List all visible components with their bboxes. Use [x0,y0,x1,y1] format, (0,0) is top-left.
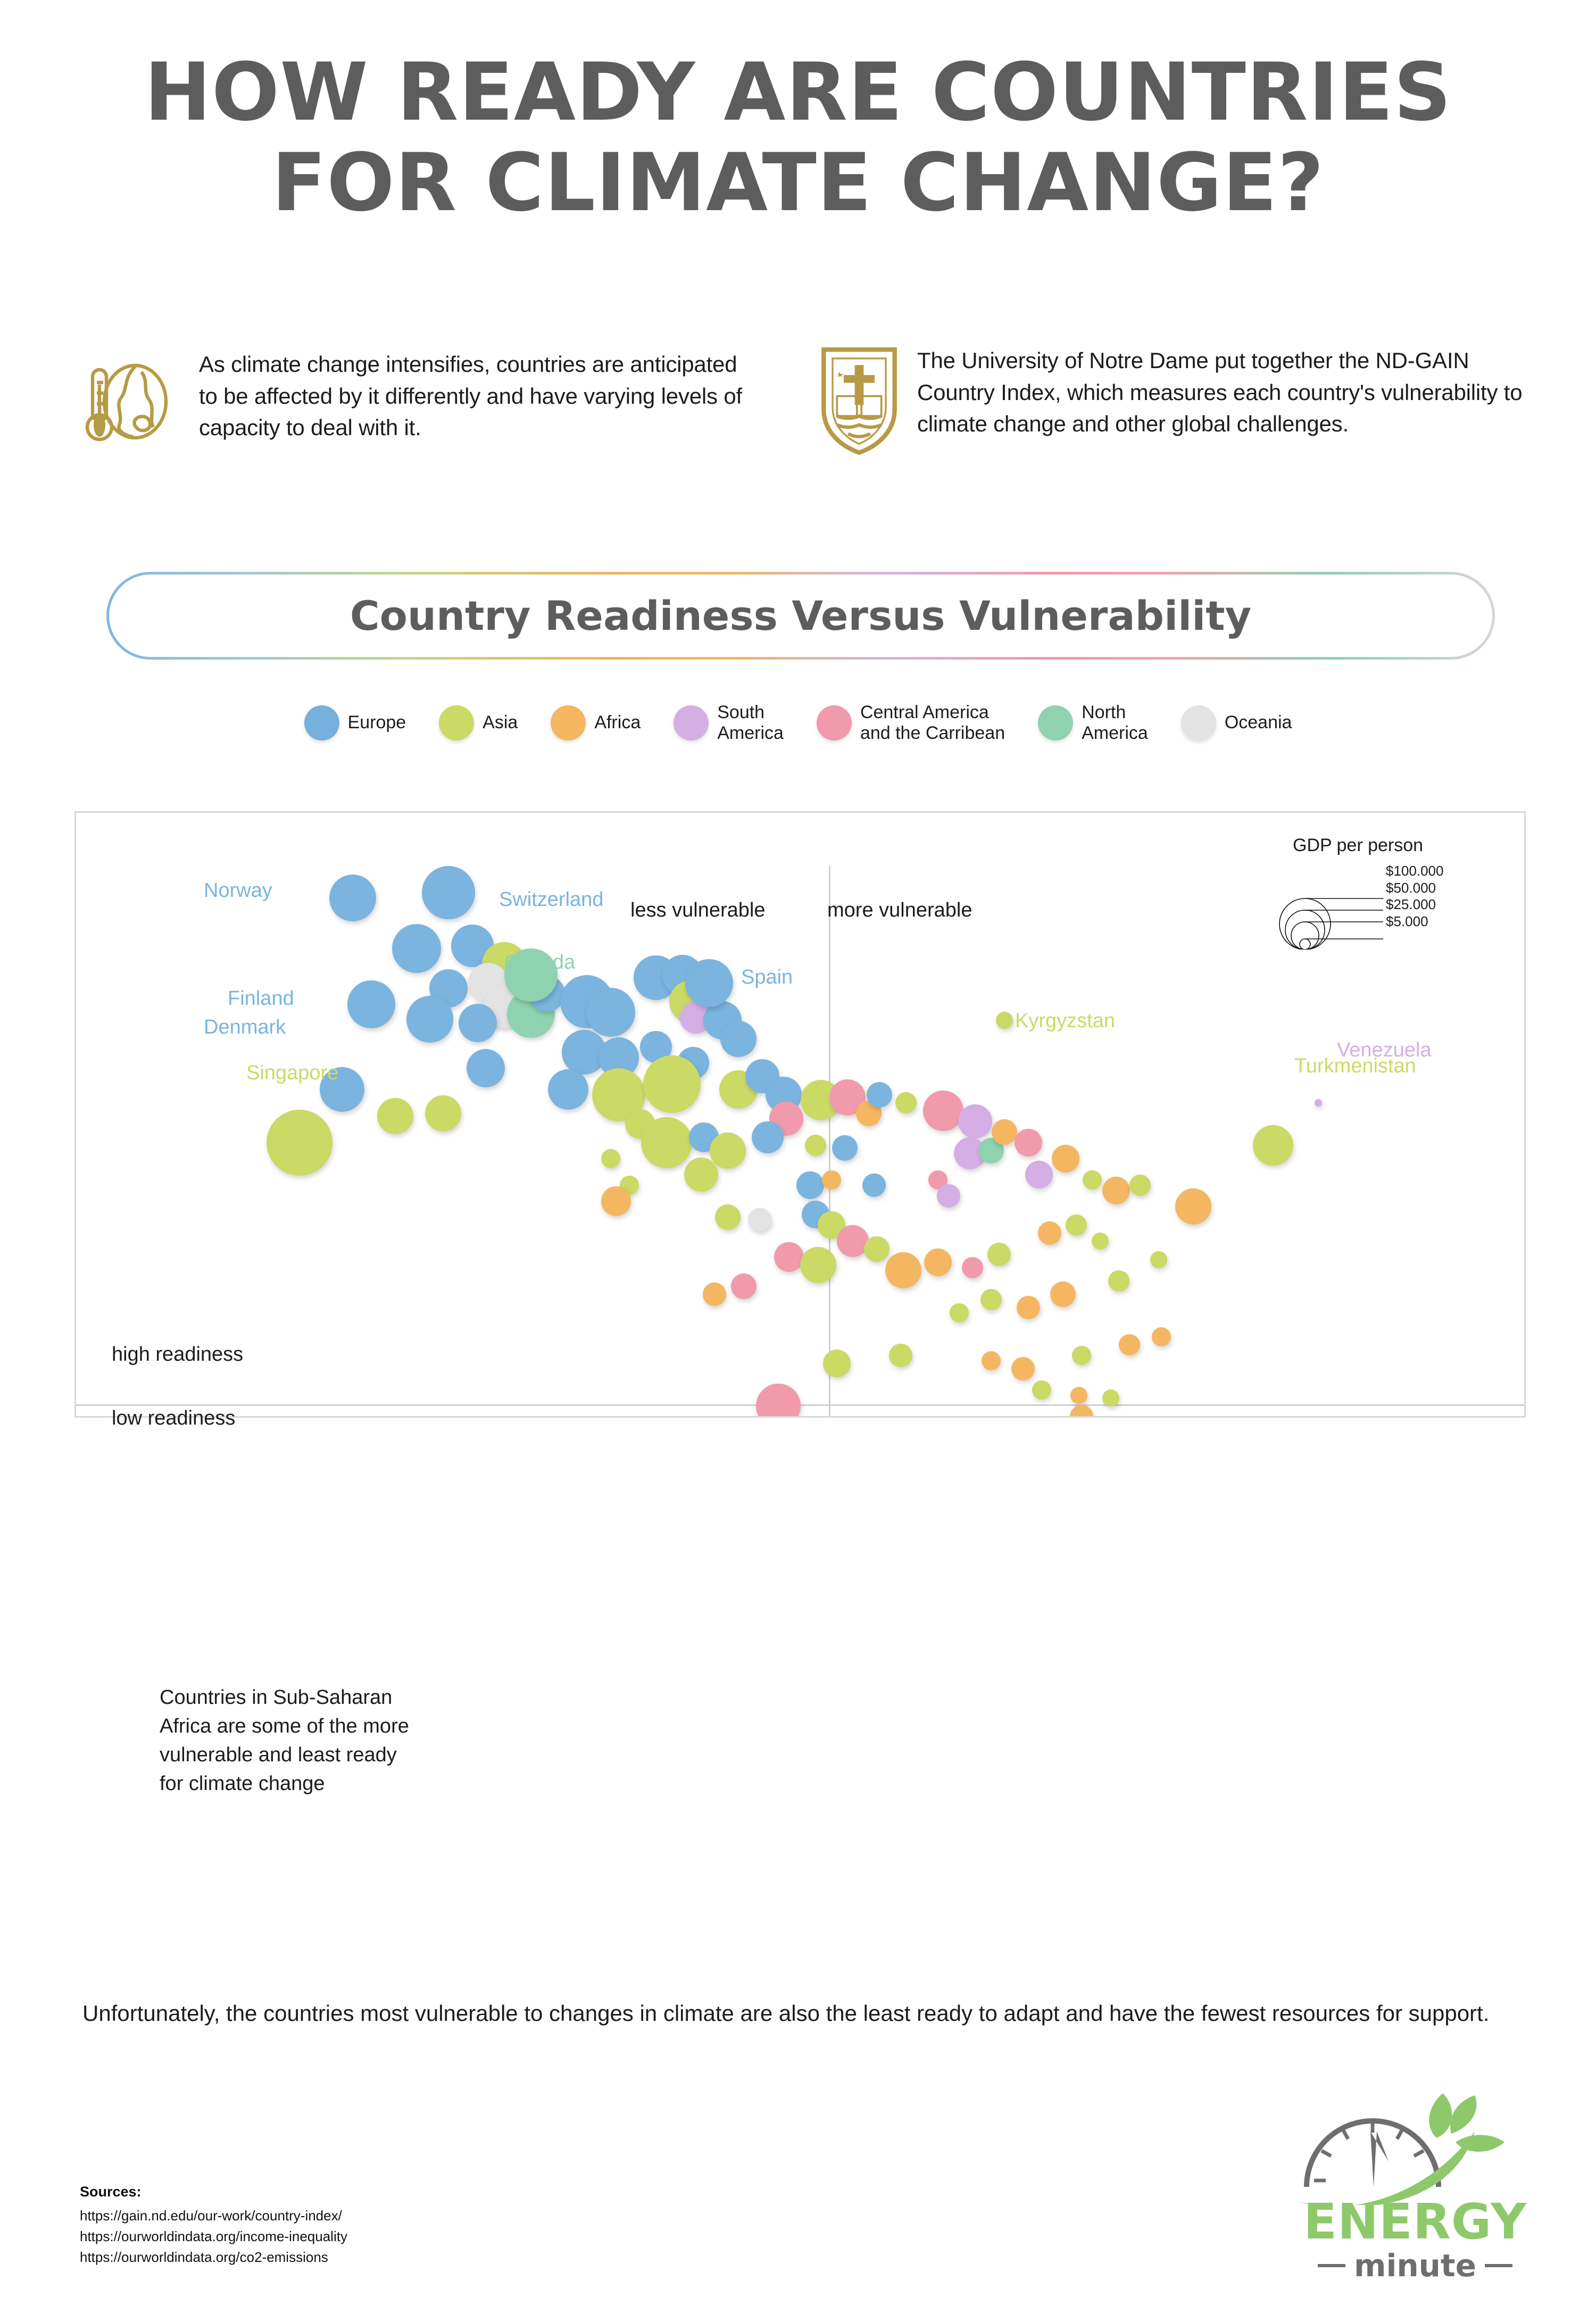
vulnerability-divider [829,866,830,1416]
data-point[interactable] [862,1173,886,1197]
point-label-denmark: Denmark [204,1016,286,1039]
sources-title: Sources: [80,2184,347,2200]
axis-label-less-vulnerable: less vulnerable [630,899,765,922]
conclusion-text: Unfortunately, the countries most vulner… [82,1997,1492,2030]
data-point[interactable] [586,988,635,1037]
legend-item[interactable]: South America [674,702,784,744]
legend-color-dot [304,705,339,740]
intro-block-climate: As climate change intensifies, countries… [74,348,745,457]
data-point[interactable] [392,924,441,973]
gdp-legend-row: $5.000 [1386,913,1443,930]
data-point-turkmenistan[interactable] [1253,1125,1293,1166]
data-point[interactable] [1066,1214,1087,1236]
point-label-finland: Finland [228,987,294,1010]
data-point[interactable] [832,1135,858,1161]
legend-color-dot [551,705,586,740]
data-point[interactable] [796,1171,824,1199]
legend-item[interactable]: Asia [439,705,518,740]
point-label-kyrgyzstan: Kyrgyzstan [1015,1010,1115,1033]
gdp-legend-row: $100.000 [1386,863,1443,880]
data-point-kyrgyzstan[interactable] [996,1012,1013,1029]
legend-color-dot [1181,705,1216,740]
intro-block-ndgain: The University of Notre Dame put togethe… [819,345,1527,459]
infographic-page: HOW READY ARE COUNTRIES FOR CLIMATE CHAN… [0,0,1596,2314]
data-point[interactable] [720,1021,757,1057]
data-point[interactable] [823,1350,851,1377]
gdp-legend-values: $100.000$50.000$25.000$5.000 [1386,863,1443,930]
data-point[interactable] [601,1149,620,1168]
title-line-1: HOW READY ARE COUNTRIES [0,48,1596,138]
data-point[interactable] [1072,1346,1091,1365]
data-point[interactable] [982,1351,1001,1370]
logo-rule-right [1485,2264,1512,2267]
legend-label: Asia [483,712,518,733]
chart-title-banner: Country Readiness Versus Vulnerability [106,572,1495,660]
source-link[interactable]: https://gain.nd.edu/our-work/country-ind… [80,2205,347,2226]
energy-minute-logo: ENERGY minute [1266,2072,1564,2285]
source-link[interactable]: https://ourworldindata.org/co2-emissions [80,2247,347,2268]
data-point[interactable] [992,1119,1017,1145]
axis-label-high-readiness: high readiness [112,1343,243,1366]
gdp-legend-title: GDP per person [1293,835,1423,856]
data-point[interactable] [864,1236,890,1262]
data-point-venezuela[interactable] [1315,1099,1322,1106]
data-point[interactable] [1175,1188,1211,1225]
sources-block: Sources: https://gain.nd.edu/our-work/co… [80,2184,347,2268]
data-point[interactable] [895,1092,917,1113]
chart-annotation: Countries in Sub-Saharan Africa are some… [160,1684,409,1799]
point-label-spain: Spain [741,966,793,989]
point-label-turkmenistan: Turkmenistan [1294,1055,1416,1078]
axis-label-more-vulnerable: more vulnerable [827,899,972,922]
data-point[interactable] [703,1283,726,1306]
data-point[interactable] [1108,1270,1129,1292]
chart-title: Country Readiness Versus Vulnerability [350,592,1251,639]
data-point[interactable] [987,1243,1011,1266]
gdp-size-legend: GDP per person $100.000$50.000$25.000$5.… [1277,835,1490,952]
data-point-saint-kitts-and-nevis[interactable] [756,1384,801,1416]
data-point[interactable] [1083,1170,1102,1189]
title-line-2: FOR CLIMATE CHANGE? [0,138,1596,229]
data-point-finland[interactable] [347,980,395,1028]
data-point[interactable] [752,1121,784,1153]
region-legend: EuropeAsiaAfricaSouth AmericaCentral Ame… [0,702,1596,744]
data-point[interactable] [950,1303,969,1322]
point-label-norway: Norway [204,879,272,902]
page-title: HOW READY ARE COUNTRIES FOR CLIMATE CHAN… [0,48,1596,228]
data-point[interactable] [715,1204,741,1230]
data-point[interactable] [710,1133,746,1169]
data-point[interactable] [1129,1175,1151,1196]
data-point[interactable] [684,1158,718,1192]
data-point-norway[interactable] [329,875,376,921]
data-point[interactable] [548,1069,588,1110]
data-point[interactable] [1102,1177,1130,1204]
thermometer-globe-icon [74,348,181,457]
legend-label: North America [1082,702,1148,744]
data-point[interactable] [980,1289,1002,1310]
legend-label: Oceania [1225,712,1292,733]
legend-color-dot [674,705,709,740]
legend-label: Africa [594,712,641,733]
legend-item[interactable]: Central America and the Carribean [817,702,1005,744]
logo-rule-left [1318,2264,1345,2267]
data-point[interactable] [459,1004,497,1042]
data-point[interactable] [406,996,453,1043]
legend-label: South America [717,702,784,744]
logo-minute-text: minute [1354,2248,1476,2284]
data-point[interactable] [889,1344,912,1367]
data-point[interactable] [601,1186,631,1216]
data-point[interactable] [774,1242,804,1272]
data-point[interactable] [1015,1129,1042,1156]
legend-item[interactable]: Africa [551,705,641,740]
legend-item[interactable]: Europe [304,705,406,740]
data-point[interactable] [1070,1405,1093,1416]
data-point[interactable] [1017,1296,1040,1319]
gdp-legend-row: $25.000 [1386,896,1443,913]
data-point[interactable] [1119,1334,1140,1355]
logo-energy-text: ENERGY [1266,2193,1564,2250]
legend-item[interactable]: North America [1038,702,1148,744]
data-point[interactable] [1032,1380,1051,1400]
data-point[interactable] [867,1082,892,1108]
data-point[interactable] [885,1252,921,1288]
intro-text-climate: As climate change intensifies, countries… [199,348,745,444]
data-point-spain[interactable] [685,959,733,1007]
data-point[interactable] [641,1117,692,1168]
data-point[interactable] [822,1170,841,1189]
data-point[interactable] [937,1184,960,1208]
data-point[interactable] [962,1257,983,1278]
data-point[interactable] [800,1247,836,1283]
legend-item[interactable]: Oceania [1181,705,1292,740]
legend-color-dot [439,705,474,740]
gdp-legend-row: $50.000 [1386,880,1443,897]
data-point[interactable] [1092,1233,1109,1250]
data-point[interactable] [1038,1221,1061,1245]
data-point[interactable] [467,1049,505,1087]
data-point[interactable] [1152,1327,1171,1346]
data-point[interactable] [923,1091,963,1131]
data-point-switzerland[interactable] [422,866,475,919]
data-point[interactable] [1150,1251,1167,1268]
gauge-leaf-icon [1266,2072,1564,2205]
data-point[interactable] [731,1273,757,1299]
data-point-singapore[interactable] [267,1110,332,1176]
data-point[interactable] [1025,1161,1053,1188]
point-label-switzerland: Switzerland [499,888,603,911]
source-link[interactable]: https://ourworldindata.org/income-inequa… [80,2226,347,2247]
data-point[interactable] [958,1104,992,1138]
legend-label: Europe [348,712,406,733]
data-point[interactable] [1011,1357,1035,1380]
data-point[interactable] [1070,1387,1087,1404]
data-point[interactable] [748,1208,771,1231]
data-point[interactable] [805,1135,826,1156]
data-point[interactable] [1102,1389,1119,1406]
legend-color-dot [1038,705,1073,740]
point-label-singapore: Singapore [246,1062,338,1085]
data-point[interactable] [1052,1145,1079,1172]
data-point[interactable] [377,1098,413,1134]
legend-color-dot [817,705,852,740]
data-point[interactable] [643,1055,701,1113]
data-point[interactable] [924,1248,952,1276]
notre-dame-shield-icon [819,345,899,459]
intro-text-ndgain: The University of Notre Dame put togethe… [917,345,1527,440]
point-label-canada: Canada [504,951,575,974]
data-point[interactable] [1050,1281,1076,1307]
axis-label-low-readiness: low readiness [112,1407,235,1430]
legend-label: Central America and the Carribean [860,702,1005,744]
data-point[interactable] [425,1095,461,1131]
